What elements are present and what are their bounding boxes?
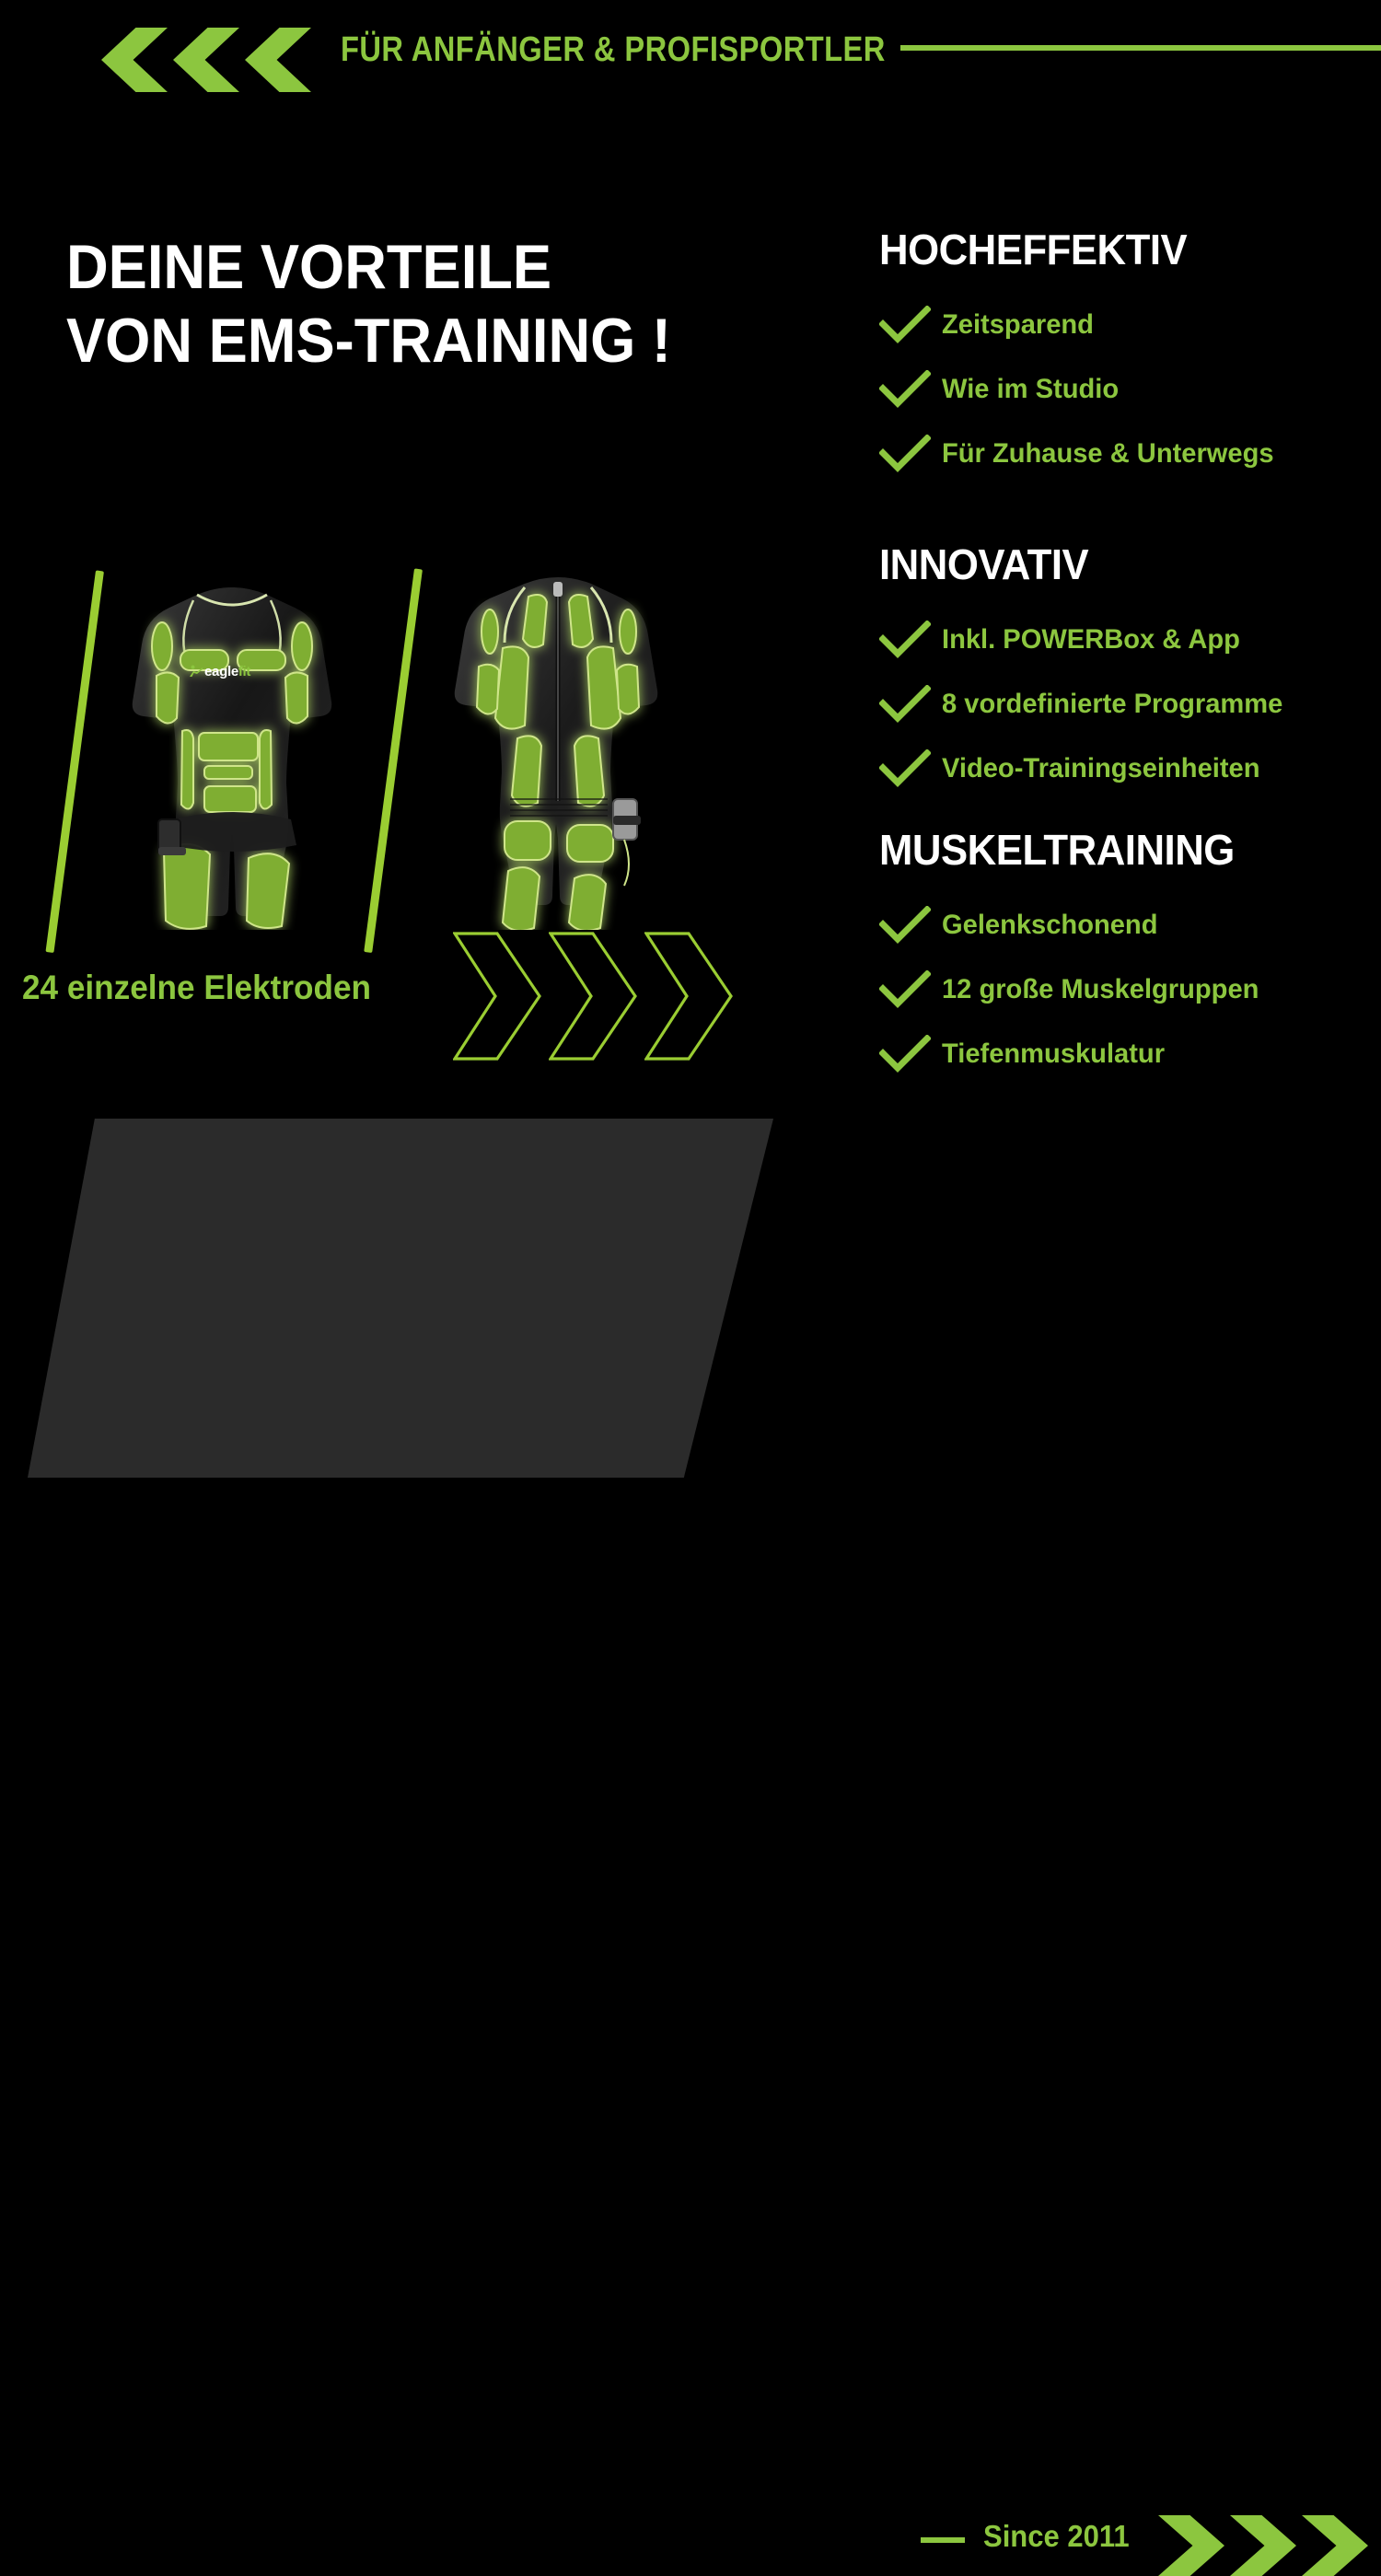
- list-item: Wie im Studio: [879, 361, 1381, 418]
- benefit-section-hocheffektiv: HOCHEFFEKTIV Zeitsparend Wie im Studio: [879, 228, 1381, 482]
- since-label: Since 2011: [983, 2519, 1130, 2554]
- list-item-label: Für Zuhause & Unterwegs: [942, 438, 1274, 470]
- benefit-list: Zeitsparend Wie im Studio Für Zuhause & …: [879, 296, 1381, 482]
- list-item-label: Wie im Studio: [942, 374, 1119, 405]
- chevron-left-icon: [101, 28, 168, 92]
- check-icon: [879, 970, 942, 1009]
- eaglefit-logo-white: eagle: [204, 664, 238, 679]
- list-item: 8 vordefinierte Programme: [879, 676, 1381, 733]
- ems-suit-back-view: [433, 571, 683, 930]
- section-spacer: [879, 490, 1381, 543]
- page-title: DEINE VORTEILE VON EMS-TRAINING !: [66, 230, 671, 377]
- chevron-right-icon: [1230, 2515, 1296, 2576]
- header-bar: FÜR ANFÄNGER & PROFISPORTLER: [0, 0, 1381, 101]
- chevron-left-icon: [245, 28, 311, 92]
- list-item: Zeitsparend: [879, 296, 1381, 354]
- page-title-line1: DEINE VORTEILE: [66, 230, 671, 304]
- section-heading: INNOVATIV: [879, 543, 1356, 586]
- ems-suit-front-view: [109, 578, 355, 930]
- list-item-label: Gelenkschonend: [942, 910, 1157, 941]
- list-item: Tiefenmuskulatur: [879, 1026, 1381, 1083]
- list-item: Video-Trainingseinheiten: [879, 740, 1381, 797]
- chevron-right-outline-icon: [453, 932, 541, 1061]
- check-icon: [879, 685, 942, 724]
- infographic-canvas: FÜR ANFÄNGER & PROFISPORTLER DEINE VORTE…: [0, 0, 1381, 1381]
- electrode-count-caption: 24 einzelne Elektroden: [22, 969, 371, 1007]
- eaglefit-logo-green: fit: [238, 664, 250, 679]
- footer-bar: Since 2011: [0, 1252, 1381, 1335]
- list-item-label: 8 vordefinierte Programme: [942, 689, 1282, 720]
- benefit-list: Gelenkschonend 12 große Muskelgruppen Ti…: [879, 897, 1381, 1083]
- chevron-right-icon: [1302, 2515, 1368, 2576]
- list-item: Für Zuhause & Unterwegs: [879, 425, 1381, 482]
- footer-rule: [921, 2537, 965, 2543]
- list-item-label: Video-Trainingseinheiten: [942, 753, 1260, 784]
- header-chevron-group: [101, 28, 311, 92]
- check-icon: [879, 749, 942, 788]
- check-icon: [879, 1035, 942, 1073]
- benefit-section-innovativ: INNOVATIV Inkl. POWERBox & App 8 vordefi…: [879, 543, 1381, 797]
- benefit-section-muskeltraining: MUSKELTRAINING Gelenkschonend 12 große M…: [879, 829, 1381, 1083]
- section-heading: HOCHEFFEKTIV: [879, 228, 1356, 271]
- electrode-chevron-group: [453, 932, 733, 1061]
- check-icon: [879, 906, 942, 945]
- list-item-label: Inkl. POWERBox & App: [942, 624, 1240, 656]
- check-icon: [879, 306, 942, 344]
- eaglefit-logo: eaglefit: [189, 665, 250, 679]
- benefits-column: HOCHEFFEKTIV Zeitsparend Wie im Studio: [879, 228, 1381, 1090]
- benefit-list: Inkl. POWERBox & App 8 vordefinierte Pro…: [879, 611, 1381, 797]
- footer-chevron-group: [1158, 2515, 1368, 2576]
- zipper-pull-icon: [553, 582, 563, 597]
- chevron-right-outline-icon: [549, 932, 637, 1061]
- chevron-left-icon: [173, 28, 239, 92]
- eaglefit-runner-icon: [189, 665, 203, 678]
- header-rule: [900, 45, 1381, 51]
- list-item: Gelenkschonend: [879, 897, 1381, 954]
- check-icon: [879, 435, 942, 473]
- check-icon: [879, 370, 942, 409]
- page-title-line2: VON EMS-TRAINING !: [66, 304, 671, 377]
- list-item-label: Zeitsparend: [942, 309, 1094, 341]
- list-item-label: 12 große Muskelgruppen: [942, 974, 1259, 1005]
- list-item: Inkl. POWERBox & App: [879, 611, 1381, 668]
- chevron-right-icon: [1158, 2515, 1224, 2576]
- check-icon: [879, 621, 942, 659]
- header-tagline: FÜR ANFÄNGER & PROFISPORTLER: [341, 30, 886, 70]
- list-item: 12 große Muskelgruppen: [879, 961, 1381, 1018]
- section-heading: MUSKELTRAINING: [879, 829, 1356, 871]
- chevron-right-outline-icon: [644, 932, 733, 1061]
- list-item-label: Tiefenmuskulatur: [942, 1039, 1165, 1070]
